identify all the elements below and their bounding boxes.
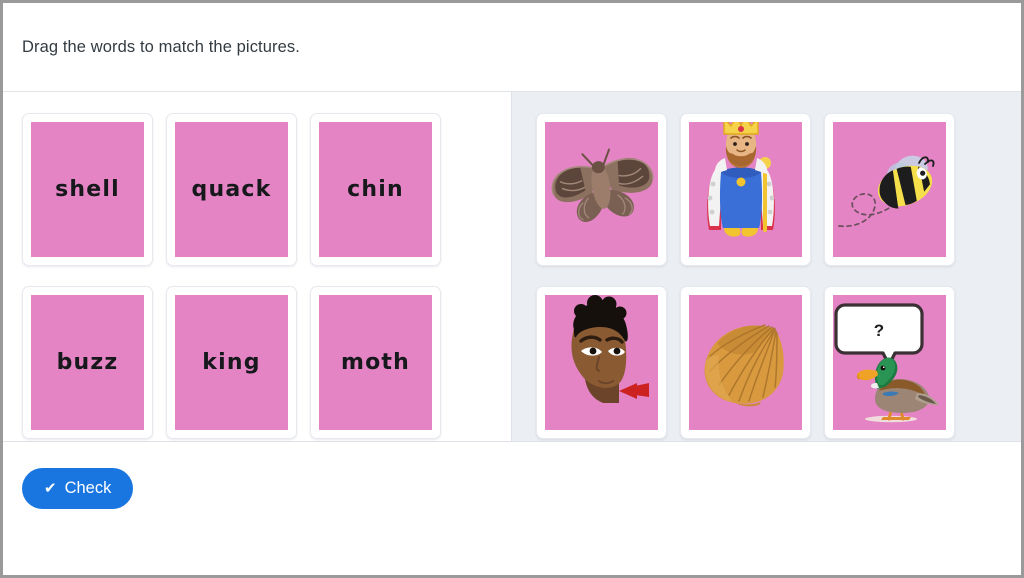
word-card-face: quack <box>175 122 288 257</box>
check-button[interactable]: ✔ Check <box>22 468 133 509</box>
picture-card-grid: ? <box>536 113 1021 439</box>
chin-face-icon <box>545 295 658 430</box>
picture-card-face <box>689 295 802 430</box>
word-card-face: chin <box>319 122 432 257</box>
duck-bubble-text: ? <box>874 321 884 340</box>
shell-icon <box>689 295 802 430</box>
picture-card-moth[interactable] <box>536 113 667 266</box>
picture-card-bee[interactable] <box>824 113 955 266</box>
word-bank-panel: shell quack chin buzz <box>3 92 512 441</box>
picture-card-face: ? <box>833 295 946 430</box>
word-label: quack <box>192 177 272 202</box>
speech-bubble-icon: ? <box>836 305 922 365</box>
moth-icon <box>545 122 658 257</box>
king-icon <box>689 122 802 257</box>
page-title: Drag the words to match the pictures. <box>22 38 300 57</box>
footer-bar: ✔ Check <box>3 442 1021 572</box>
pointer-arrow-icon <box>619 383 649 399</box>
duck-icon: ? <box>833 295 946 430</box>
word-card-grid: shell quack chin buzz <box>22 113 511 439</box>
word-label: king <box>202 350 260 375</box>
picture-card-face <box>689 122 802 257</box>
word-card-buzz[interactable]: buzz <box>22 286 153 439</box>
activity-page: Drag the words to match the pictures. sh… <box>3 3 1021 575</box>
word-card-face: king <box>175 295 288 430</box>
picture-card-face <box>545 295 658 430</box>
word-card-chin[interactable]: chin <box>310 113 441 266</box>
word-label: moth <box>341 350 410 375</box>
bee-icon <box>833 122 946 257</box>
word-label: buzz <box>57 350 119 375</box>
word-card-shell[interactable]: shell <box>22 113 153 266</box>
picture-card-king[interactable] <box>680 113 811 266</box>
word-card-quack[interactable]: quack <box>166 113 297 266</box>
prompt-bar: Drag the words to match the pictures. <box>3 3 1021 92</box>
picture-card-face <box>833 122 946 257</box>
check-mark-icon: ✔ <box>44 481 57 496</box>
picture-target-panel: ? <box>512 92 1021 441</box>
word-card-face: shell <box>31 122 144 257</box>
word-label: shell <box>55 177 120 202</box>
word-card-face: buzz <box>31 295 144 430</box>
picture-card-shell[interactable] <box>680 286 811 439</box>
word-card-moth[interactable]: moth <box>310 286 441 439</box>
picture-card-duck[interactable]: ? <box>824 286 955 439</box>
matching-activity: shell quack chin buzz <box>3 92 1021 442</box>
word-card-king[interactable]: king <box>166 286 297 439</box>
picture-card-face <box>545 122 658 257</box>
check-button-label: Check <box>65 479 112 498</box>
word-card-face: moth <box>319 295 432 430</box>
word-label: chin <box>347 177 404 202</box>
picture-card-chin[interactable] <box>536 286 667 439</box>
